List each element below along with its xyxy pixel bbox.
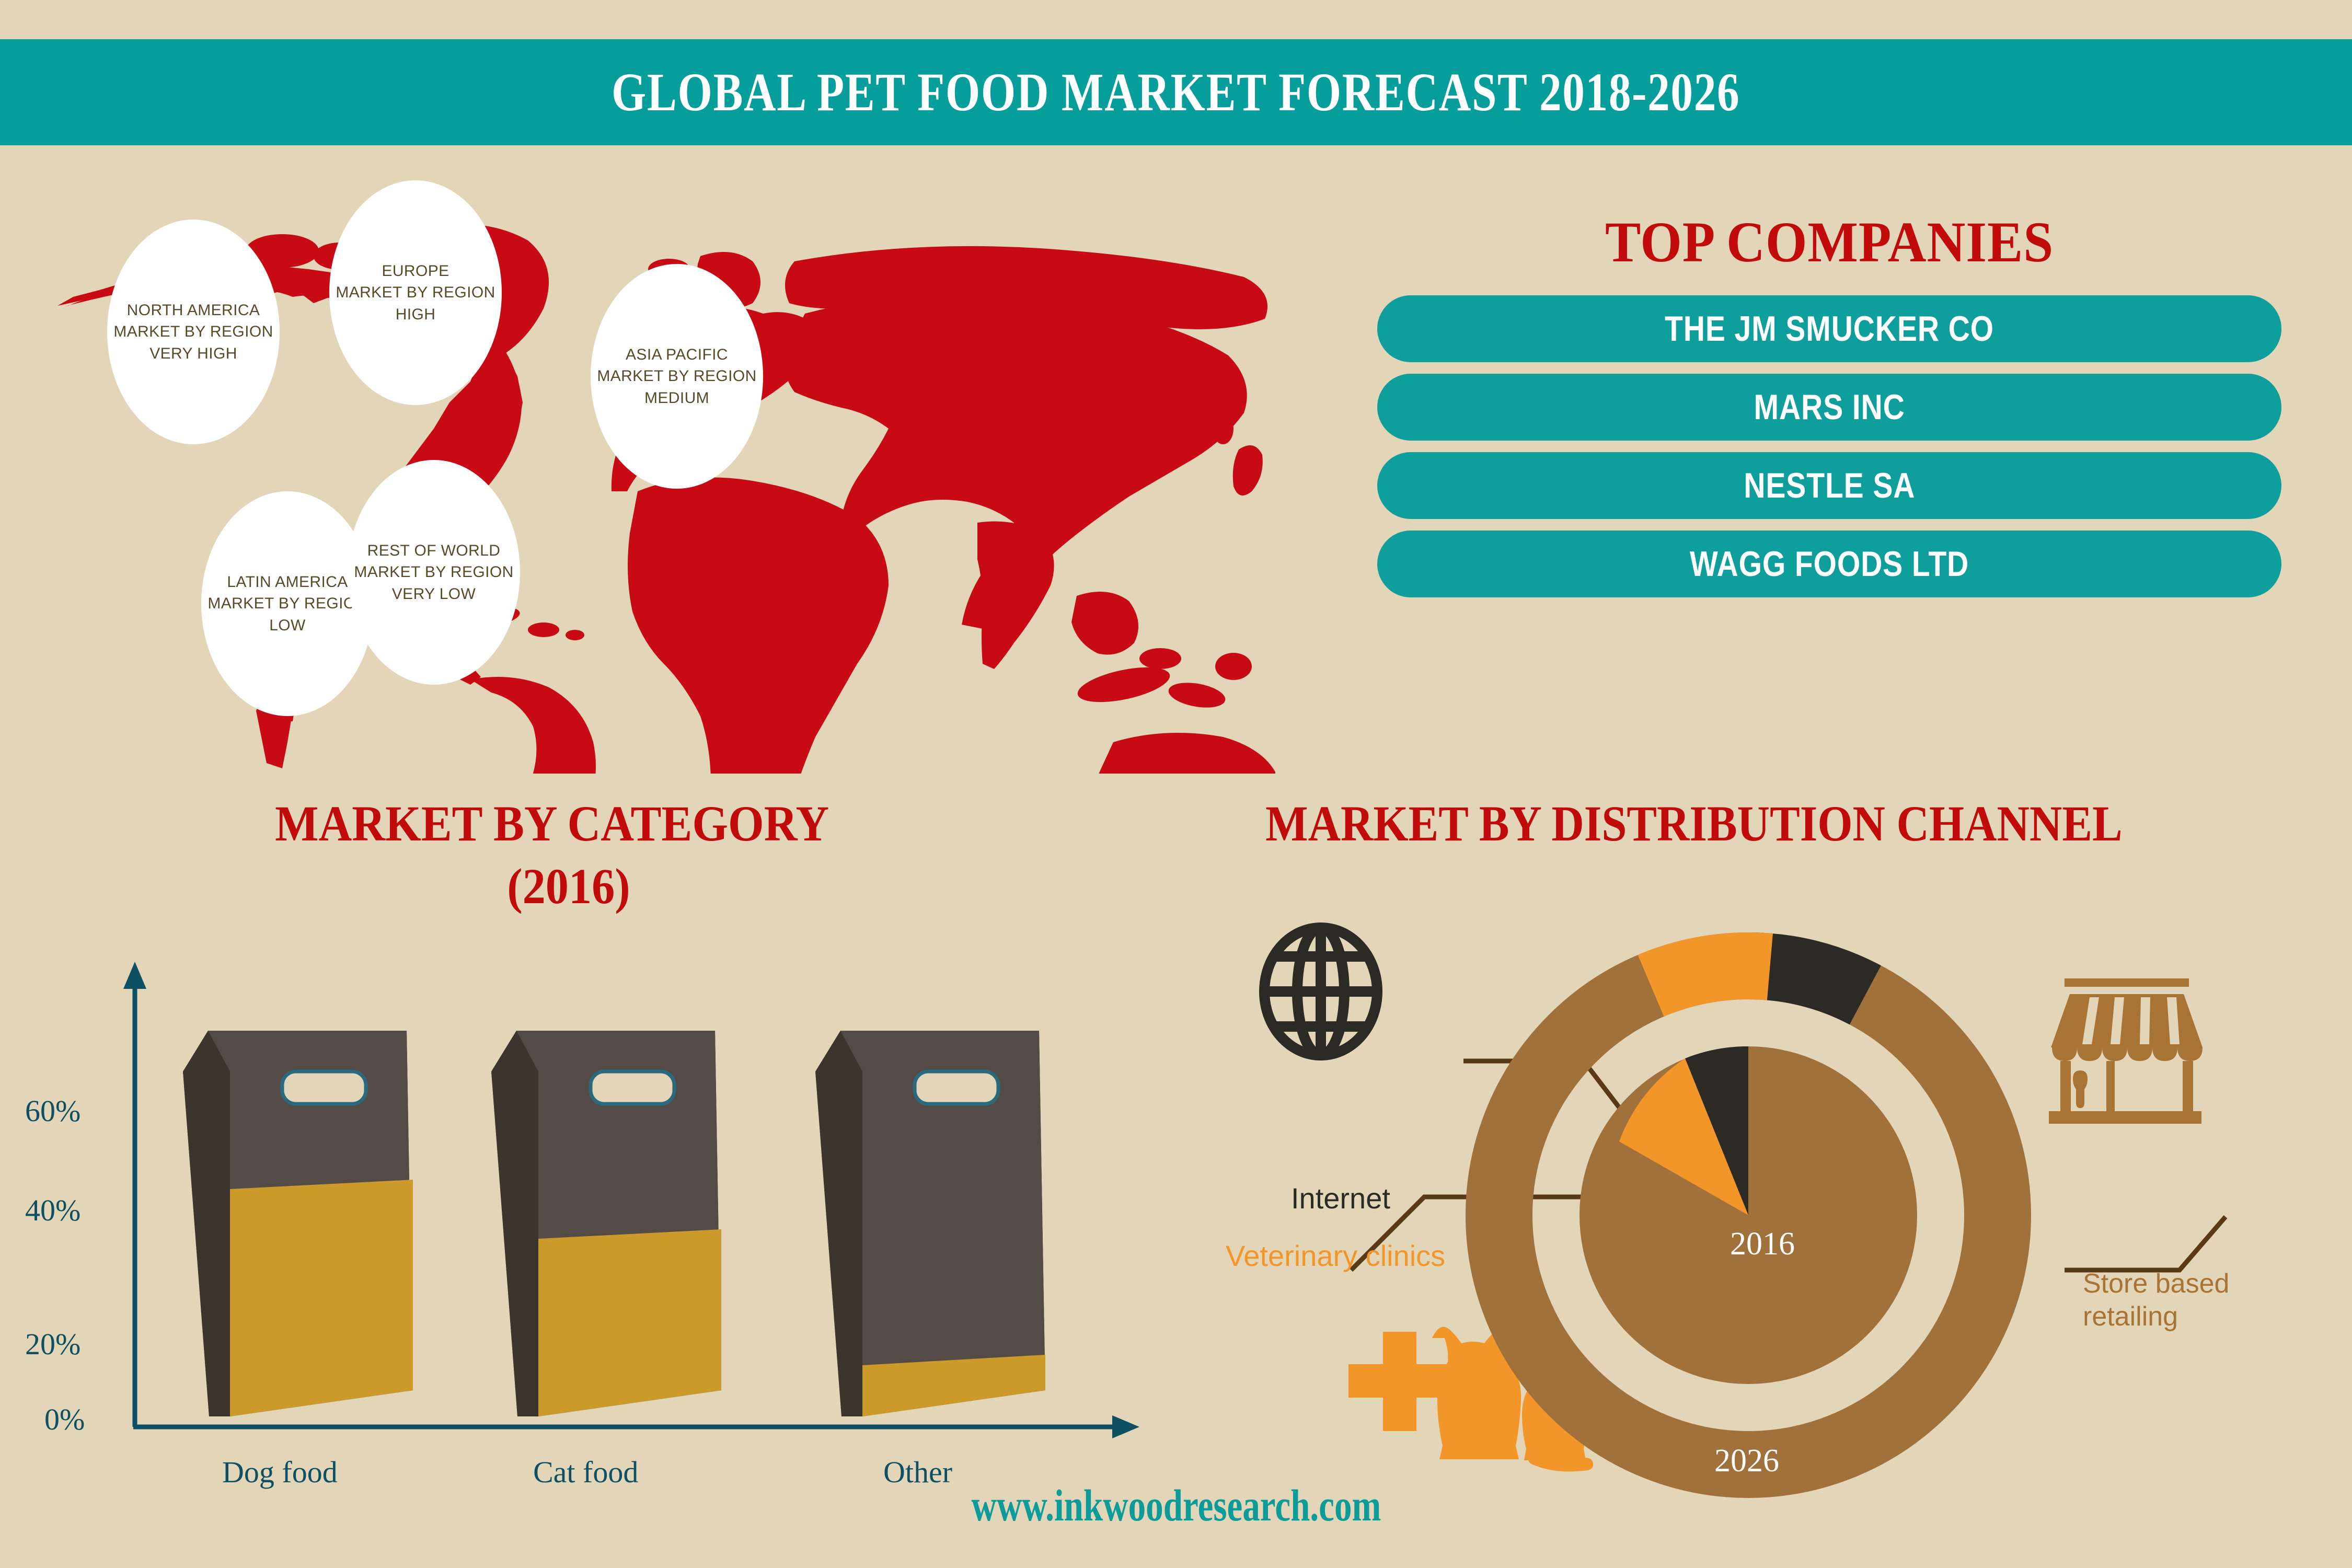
bubble-level: HIGH: [396, 304, 436, 325]
company-pill-3[interactable]: NESTLE SA: [1377, 452, 2281, 519]
company-pill-2[interactable]: MARS INC: [1377, 374, 2281, 441]
globe-icon: [1264, 928, 1377, 1055]
bubble-metric: MARKET BY REGION: [336, 282, 495, 303]
page-title: GLOBAL PET FOOD MARKET FORECAST 2018-202…: [612, 61, 1740, 123]
donut-svg: [1453, 920, 2044, 1511]
bubble-level: VERY LOW: [392, 583, 476, 605]
map-bubble-rest-of-world[interactable]: REST OF WORLD MARKET BY REGION VERY LOW: [348, 460, 520, 685]
company-name: NESTLE SA: [1744, 465, 1915, 506]
map-bubble-asia-pacific[interactable]: ASIA PACIFIC MARKET BY REGION MEDIUM: [591, 264, 763, 489]
store-icon: [2049, 978, 2203, 1124]
outer-ring-year-label: 2026: [1714, 1443, 1779, 1480]
bar-cat-food: [491, 1031, 721, 1416]
bar-chart-svg: [0, 899, 1202, 1474]
inner-ring-year-label: 2016: [1730, 1226, 1795, 1263]
label-internet: Internet: [1291, 1181, 1390, 1215]
y-tick-20: 20%: [25, 1327, 80, 1362]
top-companies-title: TOP COMPANIES: [1392, 209, 2267, 275]
store-leader-line: [2065, 1217, 2226, 1270]
bubble-region: EUROPE: [382, 260, 449, 282]
map-bubble-north-america[interactable]: NORTH AMERICA MARKET BY REGION VERY HIGH: [107, 220, 280, 444]
world-map: NORTH AMERICA MARKET BY REGION VERY HIGH…: [21, 157, 1275, 774]
company-name: MARS INC: [1754, 387, 1905, 428]
bubble-metric: MARKET BY REGION: [207, 593, 367, 614]
bubble-metric: MARKET BY REGION: [597, 365, 756, 387]
bubble-region: ASIA PACIFIC: [626, 344, 728, 365]
bubble-metric: MARKET BY REGION: [354, 561, 513, 583]
bubble-level: VERY HIGH: [149, 343, 237, 364]
map-bubble-europe[interactable]: EUROPE MARKET BY REGION HIGH: [329, 180, 502, 405]
label-veterinary-clinics: Veterinary clinics: [1226, 1239, 1445, 1273]
bubble-level: LOW: [269, 615, 306, 636]
map-bubble-latin-america[interactable]: LATIN AMERICA MARKET BY REGION LOW: [201, 491, 374, 716]
company-name: WAGG FOODS LTD: [1690, 544, 1969, 584]
footer: www.inkwoodresearch.com: [0, 1479, 2352, 1531]
category-chart-title: MARKET BY CATEGORY: [275, 794, 829, 852]
company-pill-1[interactable]: THE JM SMUCKER CO: [1377, 295, 2281, 362]
top-companies-panel: TOP COMPANIES THE JM SMUCKER CO MARS INC…: [1359, 209, 2300, 609]
website-url[interactable]: www.inkwoodresearch.com: [971, 1479, 1381, 1531]
bubble-level: MEDIUM: [644, 387, 709, 409]
company-pill-4[interactable]: WAGG FOODS LTD: [1377, 531, 2281, 597]
market-by-category-chart: 60% 40% 20% 0% Dog food Cat food Other: [0, 899, 1202, 1474]
y-tick-60: 60%: [25, 1093, 80, 1128]
bubble-region: LATIN AMERICA: [227, 571, 348, 593]
infographic-page: GLOBAL PET FOOD MARKET FORECAST 2018-202…: [0, 0, 2352, 1568]
y-tick-40: 40%: [25, 1193, 80, 1228]
bubble-region: NORTH AMERICA: [127, 299, 260, 321]
bar-other: [815, 1031, 1045, 1416]
y-tick-0: 0%: [44, 1402, 85, 1437]
distribution-donut-chart: 2016 2026: [1453, 920, 2044, 1511]
bubble-region: REST OF WORLD: [367, 540, 501, 561]
distribution-chart-title: MARKET BY DISTRIBUTION CHANNEL: [1265, 794, 2122, 852]
bar-dog-food: [183, 1031, 413, 1416]
label-store-based-retailing: Store based retailing: [2083, 1267, 2261, 1334]
header-banner: GLOBAL PET FOOD MARKET FORECAST 2018-202…: [0, 39, 2352, 145]
company-name: THE JM SMUCKER CO: [1665, 308, 1994, 349]
bubble-metric: MARKET BY REGION: [113, 321, 273, 342]
inner-pie-2016: [1579, 1046, 1917, 1384]
